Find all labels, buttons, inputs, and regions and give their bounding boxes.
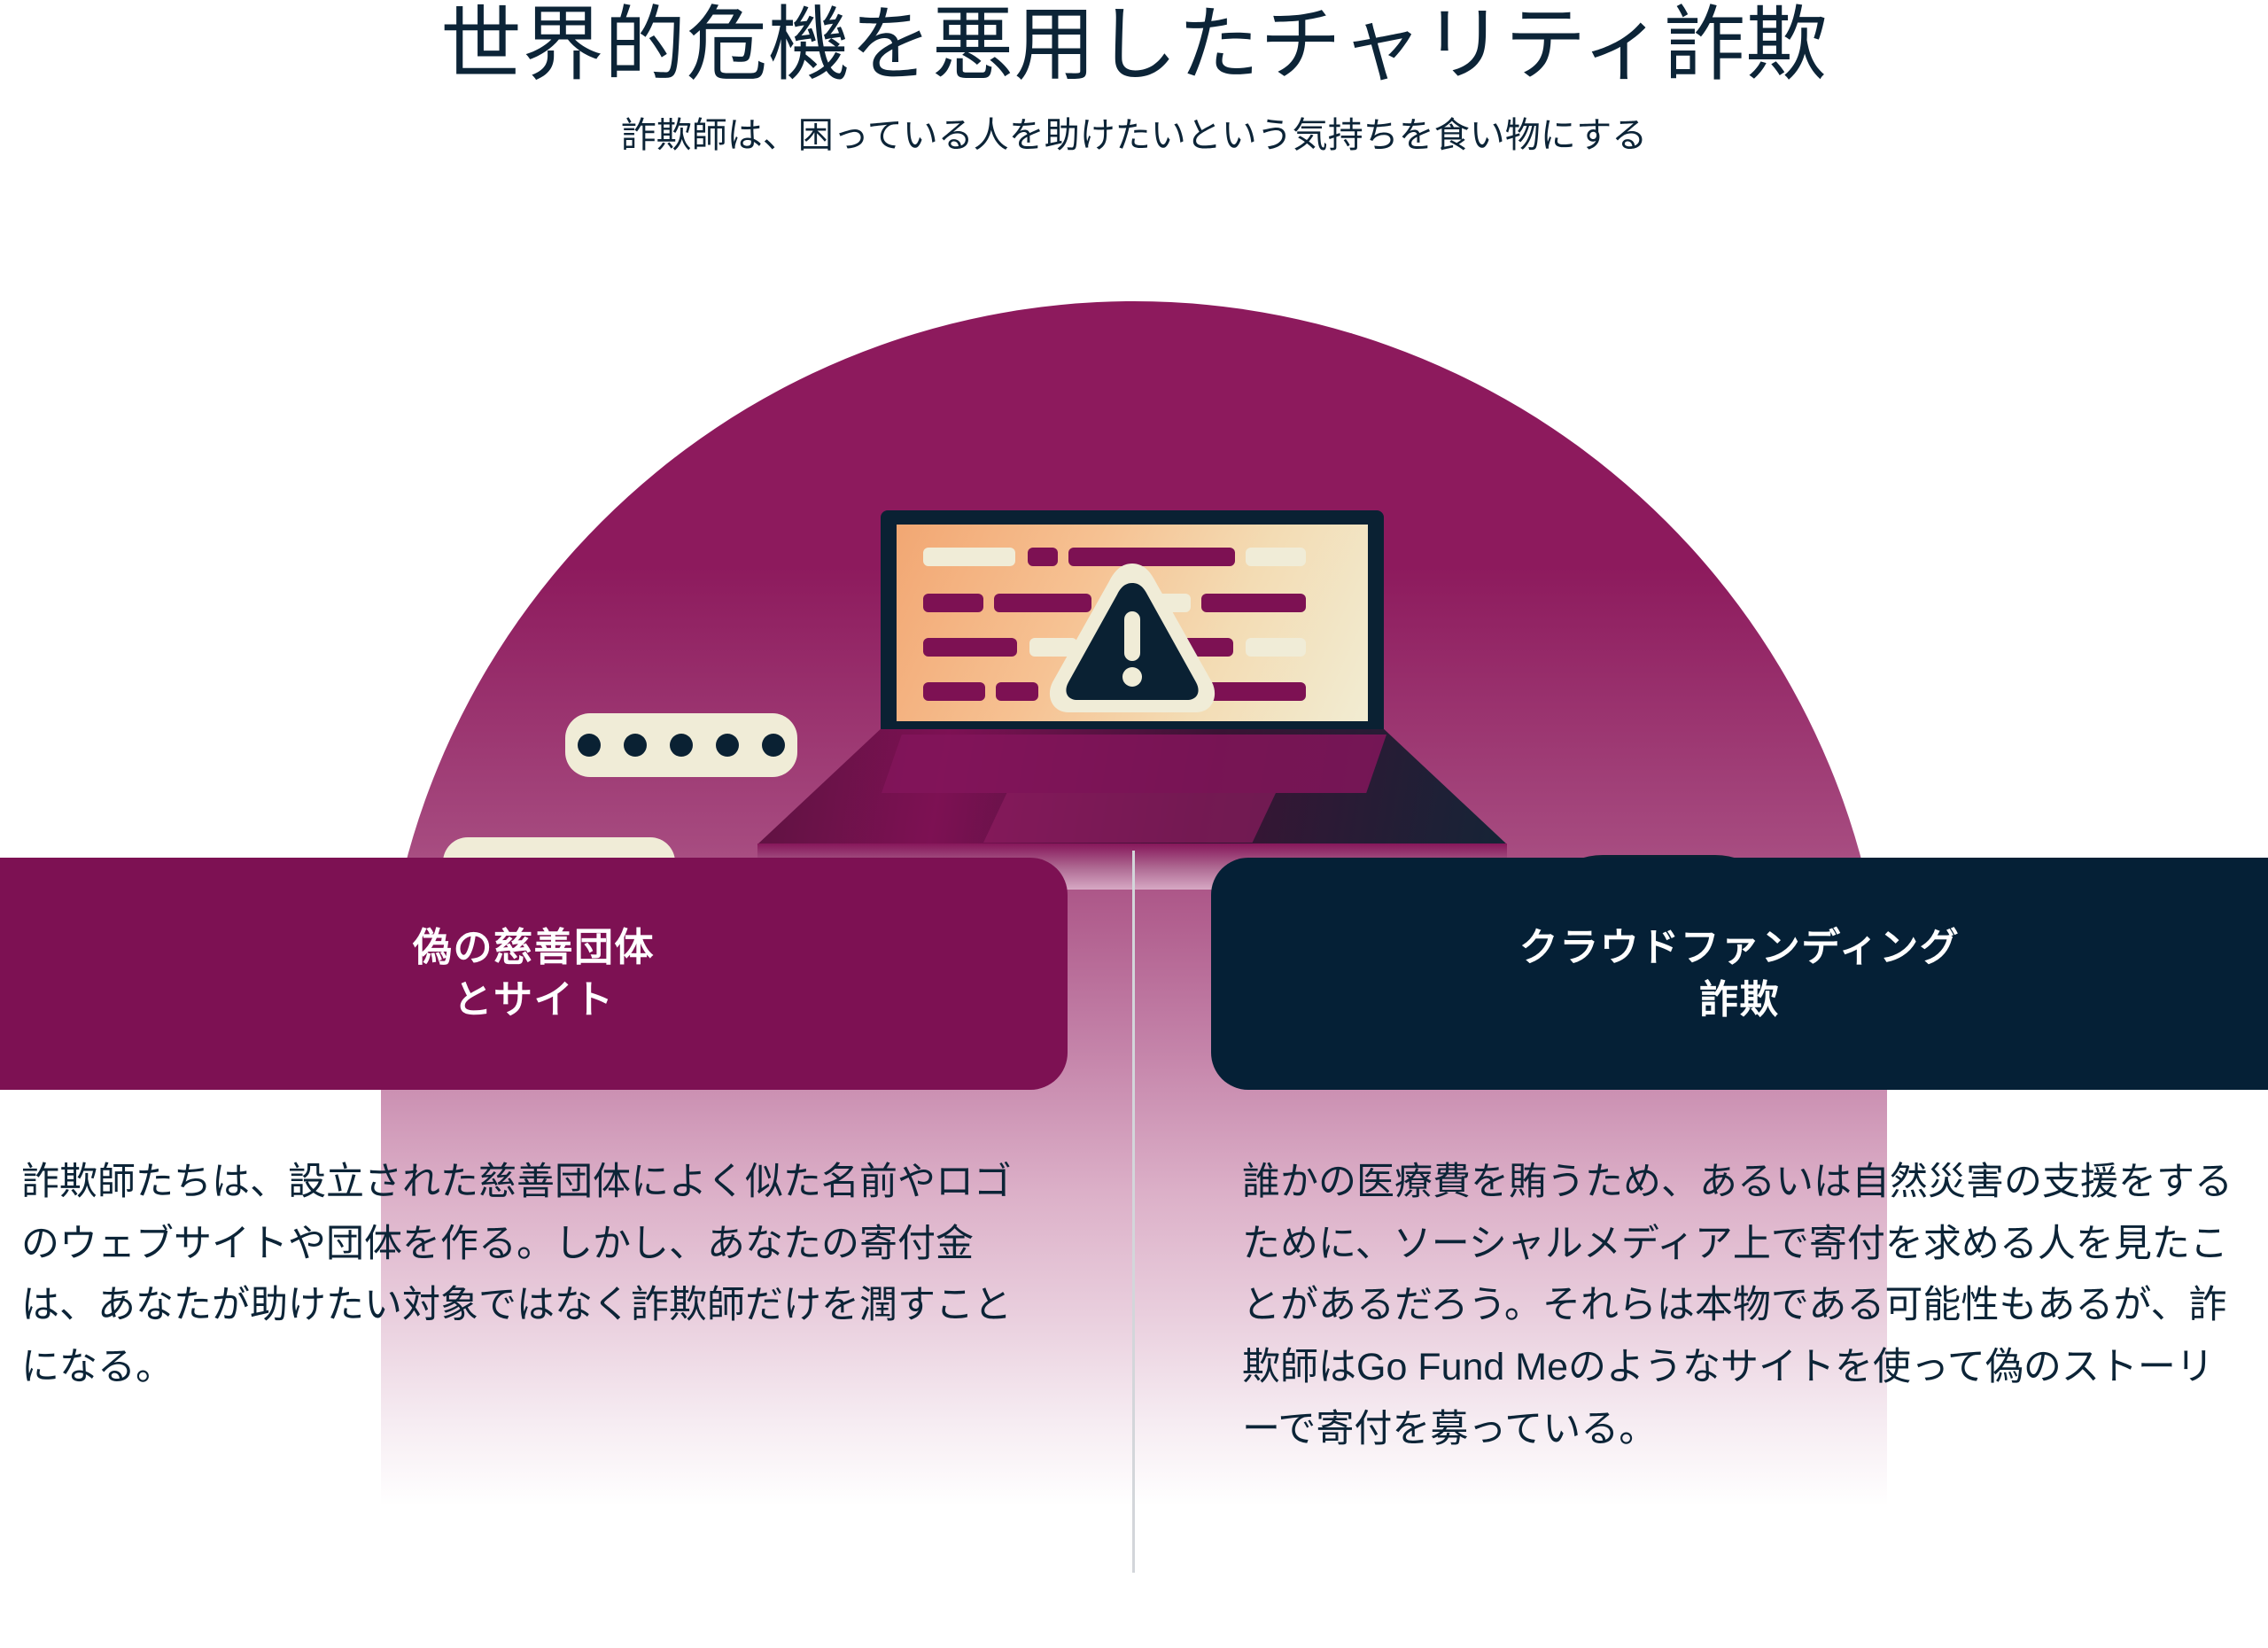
- card-title: クラウドファンディング 詐欺: [1519, 921, 1960, 1027]
- card-title: 偽の慈善団体 とサイト: [413, 921, 655, 1027]
- warning-triangle-icon: [1044, 558, 1221, 718]
- card-crowdfunding-scams[interactable]: クラウドファンディング 詐欺: [1211, 858, 2268, 1090]
- header: 世界的危機を悪用したチャリティ詐欺 詐欺師は、困っている人を助けたいという気持ち…: [0, 0, 2268, 159]
- body-text-crowdfunding-scams: 誰かの医療費を賄うため、あるいは自然災害の支援をするために、ソーシャルメディア上…: [1242, 1152, 2248, 1460]
- page-subtitle: 詐欺師は、困っている人を助けたいという気持ちを食い物にする: [0, 89, 2268, 159]
- body-paragraph: 誰かの医療費を賄うため、あるいは自然災害の支援をするために、ソーシャルメディア上…: [1242, 1152, 2248, 1460]
- column-divider: [1132, 851, 1135, 1573]
- page-title: 世界的危機を悪用したチャリティ詐欺: [0, 0, 2268, 89]
- card-fake-charities[interactable]: 偽の慈善団体 とサイト: [0, 858, 1068, 1090]
- body-paragraph: 詐欺師たちは、設立された慈善団体によく似た名前やロゴのウェブサイトや団体を作る。…: [21, 1152, 1027, 1399]
- laptop-trackpad: [983, 793, 1276, 843]
- laptop: [0, 266, 2268, 913]
- body-text-fake-charities: 詐欺師たちは、設立された慈善団体によく似た名前やロゴのウェブサイトや団体を作る。…: [21, 1152, 1027, 1399]
- laptop-keyboard: [882, 735, 1386, 793]
- hero-illustration: [0, 266, 2268, 913]
